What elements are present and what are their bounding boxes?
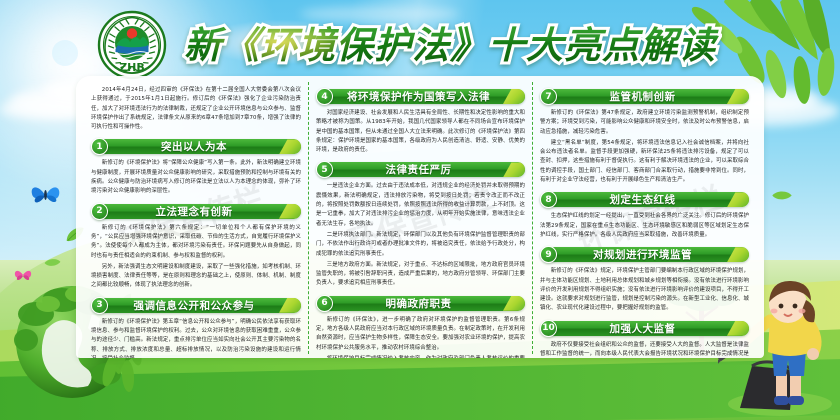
section-number: 6 bbox=[316, 295, 333, 312]
section-header-4[interactable]: 4 将环境保护作为国策写入法律 bbox=[316, 88, 525, 105]
section-title: 划定生态红线 bbox=[560, 191, 725, 208]
section-paragraph: 新修订的《环境保护法》第六条规定：“一切单位和个人都有保护环境的义务”，“公民应… bbox=[91, 224, 301, 261]
section-title: 对规划进行环境监管 bbox=[560, 246, 725, 263]
section-header-8[interactable]: 8 划定生态红线 bbox=[540, 191, 749, 208]
section-header-5[interactable]: 5 法律责任严厉 bbox=[316, 161, 525, 178]
section-title: 监管机制创新 bbox=[560, 88, 725, 105]
section-header-10[interactable]: 10 加强人大监督 bbox=[540, 320, 749, 337]
section-number: 7 bbox=[540, 88, 557, 105]
section-paragraph: 建立“黑名单”制度，第54条规定，将环境违法信息记入社会诚信档案，并将向社会公布… bbox=[540, 139, 749, 185]
section-number: 2 bbox=[91, 203, 108, 220]
section-header-2[interactable]: 2 立法理念有创新 bbox=[91, 203, 301, 220]
section-number: 10 bbox=[540, 320, 557, 337]
section-header-6[interactable]: 6 明确政府职责 bbox=[316, 295, 525, 312]
section-number: 3 bbox=[91, 297, 108, 314]
section-title: 强调信息公开和公众参与 bbox=[111, 297, 277, 314]
section-header-9[interactable]: 9 对规划进行环境监管 bbox=[540, 246, 749, 263]
butterfly-blue-icon bbox=[30, 182, 62, 208]
section-title: 立法理念有创新 bbox=[111, 203, 277, 220]
section-title: 加强人大监督 bbox=[560, 320, 725, 337]
section-header-7[interactable]: 7 监管机制创新 bbox=[540, 88, 749, 105]
section-title: 突出以人为本 bbox=[111, 138, 277, 155]
column-1: 2014年4月24日，经过四审的《环保法》在第十二届全国人大常委会第八次会议上获… bbox=[84, 82, 308, 354]
page-title-text: 新《环境保护法》十大亮点解读 bbox=[176, 12, 724, 72]
section-title: 法律责任严厉 bbox=[336, 161, 501, 178]
section-header-3[interactable]: 3 强调信息公开和公众参与 bbox=[91, 297, 301, 314]
section-paragraph: 另外，新法强调生态文明建设和制度建设，采取了一些强化措施，如考核机制、环境损害制… bbox=[91, 263, 301, 291]
section-paragraph: 对国家经济建设、社会发展和人民生活具有全局性、长期性和决定性影响的重大和策略才被… bbox=[316, 109, 525, 155]
section-paragraph: 新修订的《环境保护法》将“保障公众健康”写入第一条。此外，新法明确建立环境与健康… bbox=[91, 159, 301, 196]
section-paragraph: 一是违法企业方面。过去由于违法成本低，对违规企业的经济处罚并未取得预期的震慑效果… bbox=[316, 182, 525, 228]
section-paragraph: 新修订的《环保法》第47条规定，政府建立环境污染监测预警机制，组织制定预警方案；… bbox=[540, 109, 749, 137]
section-paragraph: 三是地方政府方面。新法规定，对于重点、不达标的区域限批，地方政府官员环境监管失职… bbox=[316, 261, 525, 289]
content-panel: 环保宣传栏 环保宣传栏 环保宣传栏 2014年4月24日，经过四审的《环保法》在… bbox=[76, 76, 764, 358]
section-paragraph: 将环境保护目标完成情况纳入考核内容，作为对政府及部门负责人考核评价的重要依据，考… bbox=[316, 355, 525, 358]
page-title: 新《环境保护法》十大亮点解读 新《环境保护法》十大亮点解读 bbox=[176, 12, 724, 72]
section-paragraph: 新修订的《环境保护法》第五章“信息公开和公众参与”，明确公民依法享有获取环境信息… bbox=[91, 318, 301, 358]
section-header-1[interactable]: 1 突出以人为本 bbox=[91, 138, 301, 155]
intro-paragraph: 2014年4月24日，经过四审的《环保法》在第十二届全国人大常委会第八次会议上获… bbox=[91, 86, 301, 132]
column-container: 2014年4月24日，经过四审的《环保法》在第十二届全国人大常委会第八次会议上获… bbox=[76, 76, 764, 358]
section-paragraph: 新修订的《环保法》，进一步明确了政府对环境保护的监督管理职责。第6条规定，地方各… bbox=[316, 316, 525, 353]
butterfly-pink-icon bbox=[14, 268, 32, 283]
section-title: 将环境保护作为国策写入法律 bbox=[336, 88, 501, 105]
section-title: 明确政府职责 bbox=[336, 295, 501, 312]
mep-emblem-icon: ZHB bbox=[96, 9, 168, 81]
section-paragraph: 政府不仅要接受社会组织和公众的监督，还要接受人大的监督。人大监督是法律监督和工作… bbox=[540, 341, 749, 358]
lens-flare-decor bbox=[52, 40, 78, 66]
section-number: 4 bbox=[316, 88, 333, 105]
column-2: 4 将环境保护作为国策写入法律 对国家经济建设、社会发展和人民生活具有全局性、长… bbox=[308, 82, 532, 354]
section-paragraph: 新修订的《环保法》规定，环境保护主管部门要编制本行政区域的环境保护规划，并与主体… bbox=[540, 267, 749, 313]
column-3: 7 监管机制创新 新修订的《环保法》第47条规定，政府建立环境污染监测预警机制，… bbox=[532, 82, 756, 354]
section-paragraph: 生态保护红线的划定一经提出，一直受到社会各界的广泛关注。修订后的环境保护法第29… bbox=[540, 212, 749, 240]
section-paragraph: 二是环境执法部门。新法规定，环保部门以及其他负有环境保护监督管理职责的部门，不依… bbox=[316, 231, 525, 259]
emblem-letters: ZHB bbox=[119, 61, 145, 74]
